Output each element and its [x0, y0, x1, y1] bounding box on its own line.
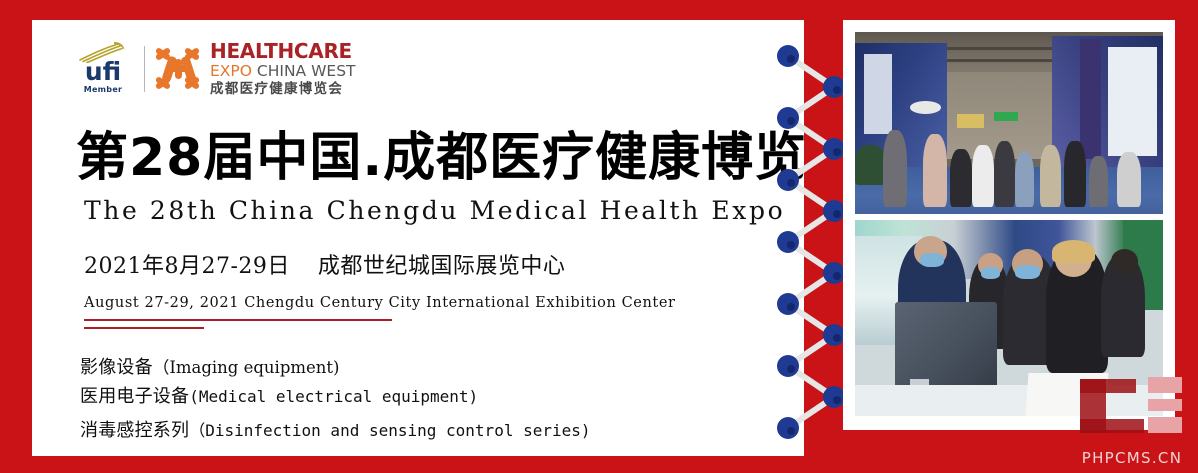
expo-word: EXPO — [210, 62, 252, 80]
photo-exhibition-aisle-image — [855, 32, 1163, 214]
ufi-logo: ufi Member — [72, 39, 134, 99]
category-item: 影像设备（Imaging equipment) — [80, 353, 340, 379]
category-item: 医用电子设备(Medical electrical equipment) — [80, 382, 478, 408]
healthcare-expo-cross-mark-icon — [154, 44, 204, 94]
watermark-text: PHPCMS.CN — [1072, 449, 1192, 467]
poster-right-card — [843, 20, 1175, 430]
event-date-venue-cn: 2021年8月27-29日成都世纪城国际展览中心 — [84, 253, 565, 281]
poster-left-card: ufi Member HEALTHCARE EXPO CHINA — [32, 20, 804, 456]
category-more-ellipsis: …… — [80, 444, 128, 456]
healthcare-expo-wordmark: HEALTHCARE EXPO CHINA WEST 成都医疗健康博览会 — [210, 41, 356, 97]
logo-divider — [144, 46, 145, 92]
category-label-cn: 医用电子设备 — [80, 386, 189, 407]
category-label-cn: 消毒感控系列 — [80, 420, 189, 441]
event-date-cn: 2021年8月27-29日 — [84, 254, 290, 279]
logo-row: ufi Member HEALTHCARE EXPO CHINA — [72, 38, 356, 100]
page-title-en: The 28th China Chengdu Medical Health Ex… — [84, 196, 785, 226]
photo-exhibition-aisle — [855, 32, 1163, 214]
ufi-wordmark: ufi — [74, 59, 132, 84]
china-west-word: CHINA WEST — [257, 62, 356, 80]
healthcare-line: HEALTHCARE — [210, 41, 356, 61]
event-venue-cn: 成都世纪城国际展览中心 — [318, 254, 566, 279]
phpcms-logo-icon — [1078, 373, 1188, 439]
category-label-cn: 影像设备 — [80, 357, 153, 378]
category-label-en: （Disinfection and sensing control series… — [189, 421, 590, 440]
healthcare-expo-cn-line: 成都医疗健康博览会 — [210, 81, 356, 97]
event-date-venue-en: August 27-29, 2021 Chengdu Century City … — [84, 294, 676, 312]
category-item: 消毒感控系列（Disinfection and sensing control … — [80, 416, 591, 442]
divider-rule-long — [84, 319, 392, 321]
expo-china-west-line: EXPO CHINA WEST — [210, 62, 356, 80]
page-title-cn: 第28届中国.成都医疗健康博览会 — [76, 128, 804, 188]
divider-rule-short — [84, 327, 204, 329]
ufi-member-label: Member — [72, 85, 134, 94]
category-label-en: (Medical electrical equipment) — [189, 387, 478, 406]
category-label-en: （Imaging equipment) — [153, 358, 340, 377]
watermark: PHPCMS.CN — [1072, 373, 1192, 469]
